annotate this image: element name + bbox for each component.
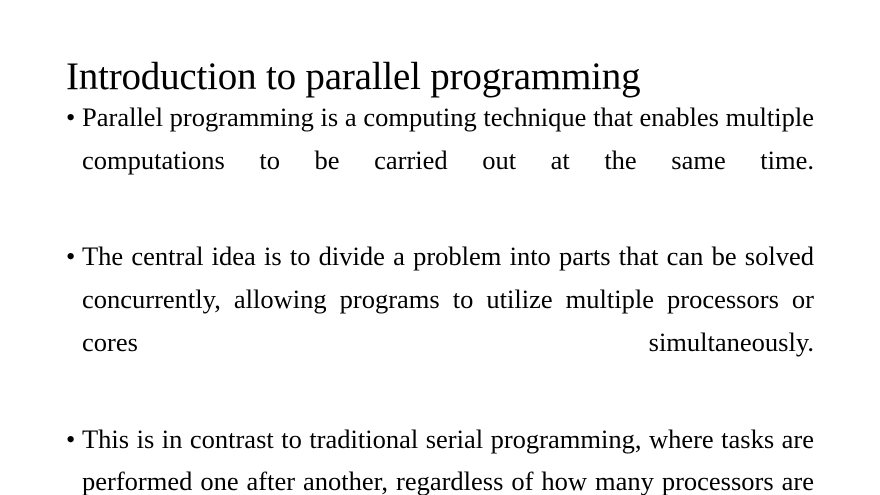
slide-title: Introduction to parallel programming [66, 53, 826, 101]
bullet-point-icon: • [66, 96, 82, 139]
list-item: • The central idea is to divide a proble… [66, 235, 814, 406]
bullet-text: The central idea is to divide a problem … [82, 235, 814, 406]
bullet-point-icon: • [66, 418, 82, 461]
bullet-list: • Parallel programming is a computing te… [66, 96, 814, 495]
list-item: • This is in contrast to traditional ser… [66, 418, 814, 495]
bullet-point-icon: • [66, 235, 82, 278]
presentation-slide: Introduction to parallel programming • P… [0, 0, 880, 495]
list-item: • Parallel programming is a computing te… [66, 96, 814, 224]
bullet-text: Parallel programming is a computing tech… [82, 96, 814, 224]
bullet-text: This is in contrast to traditional seria… [82, 418, 814, 495]
